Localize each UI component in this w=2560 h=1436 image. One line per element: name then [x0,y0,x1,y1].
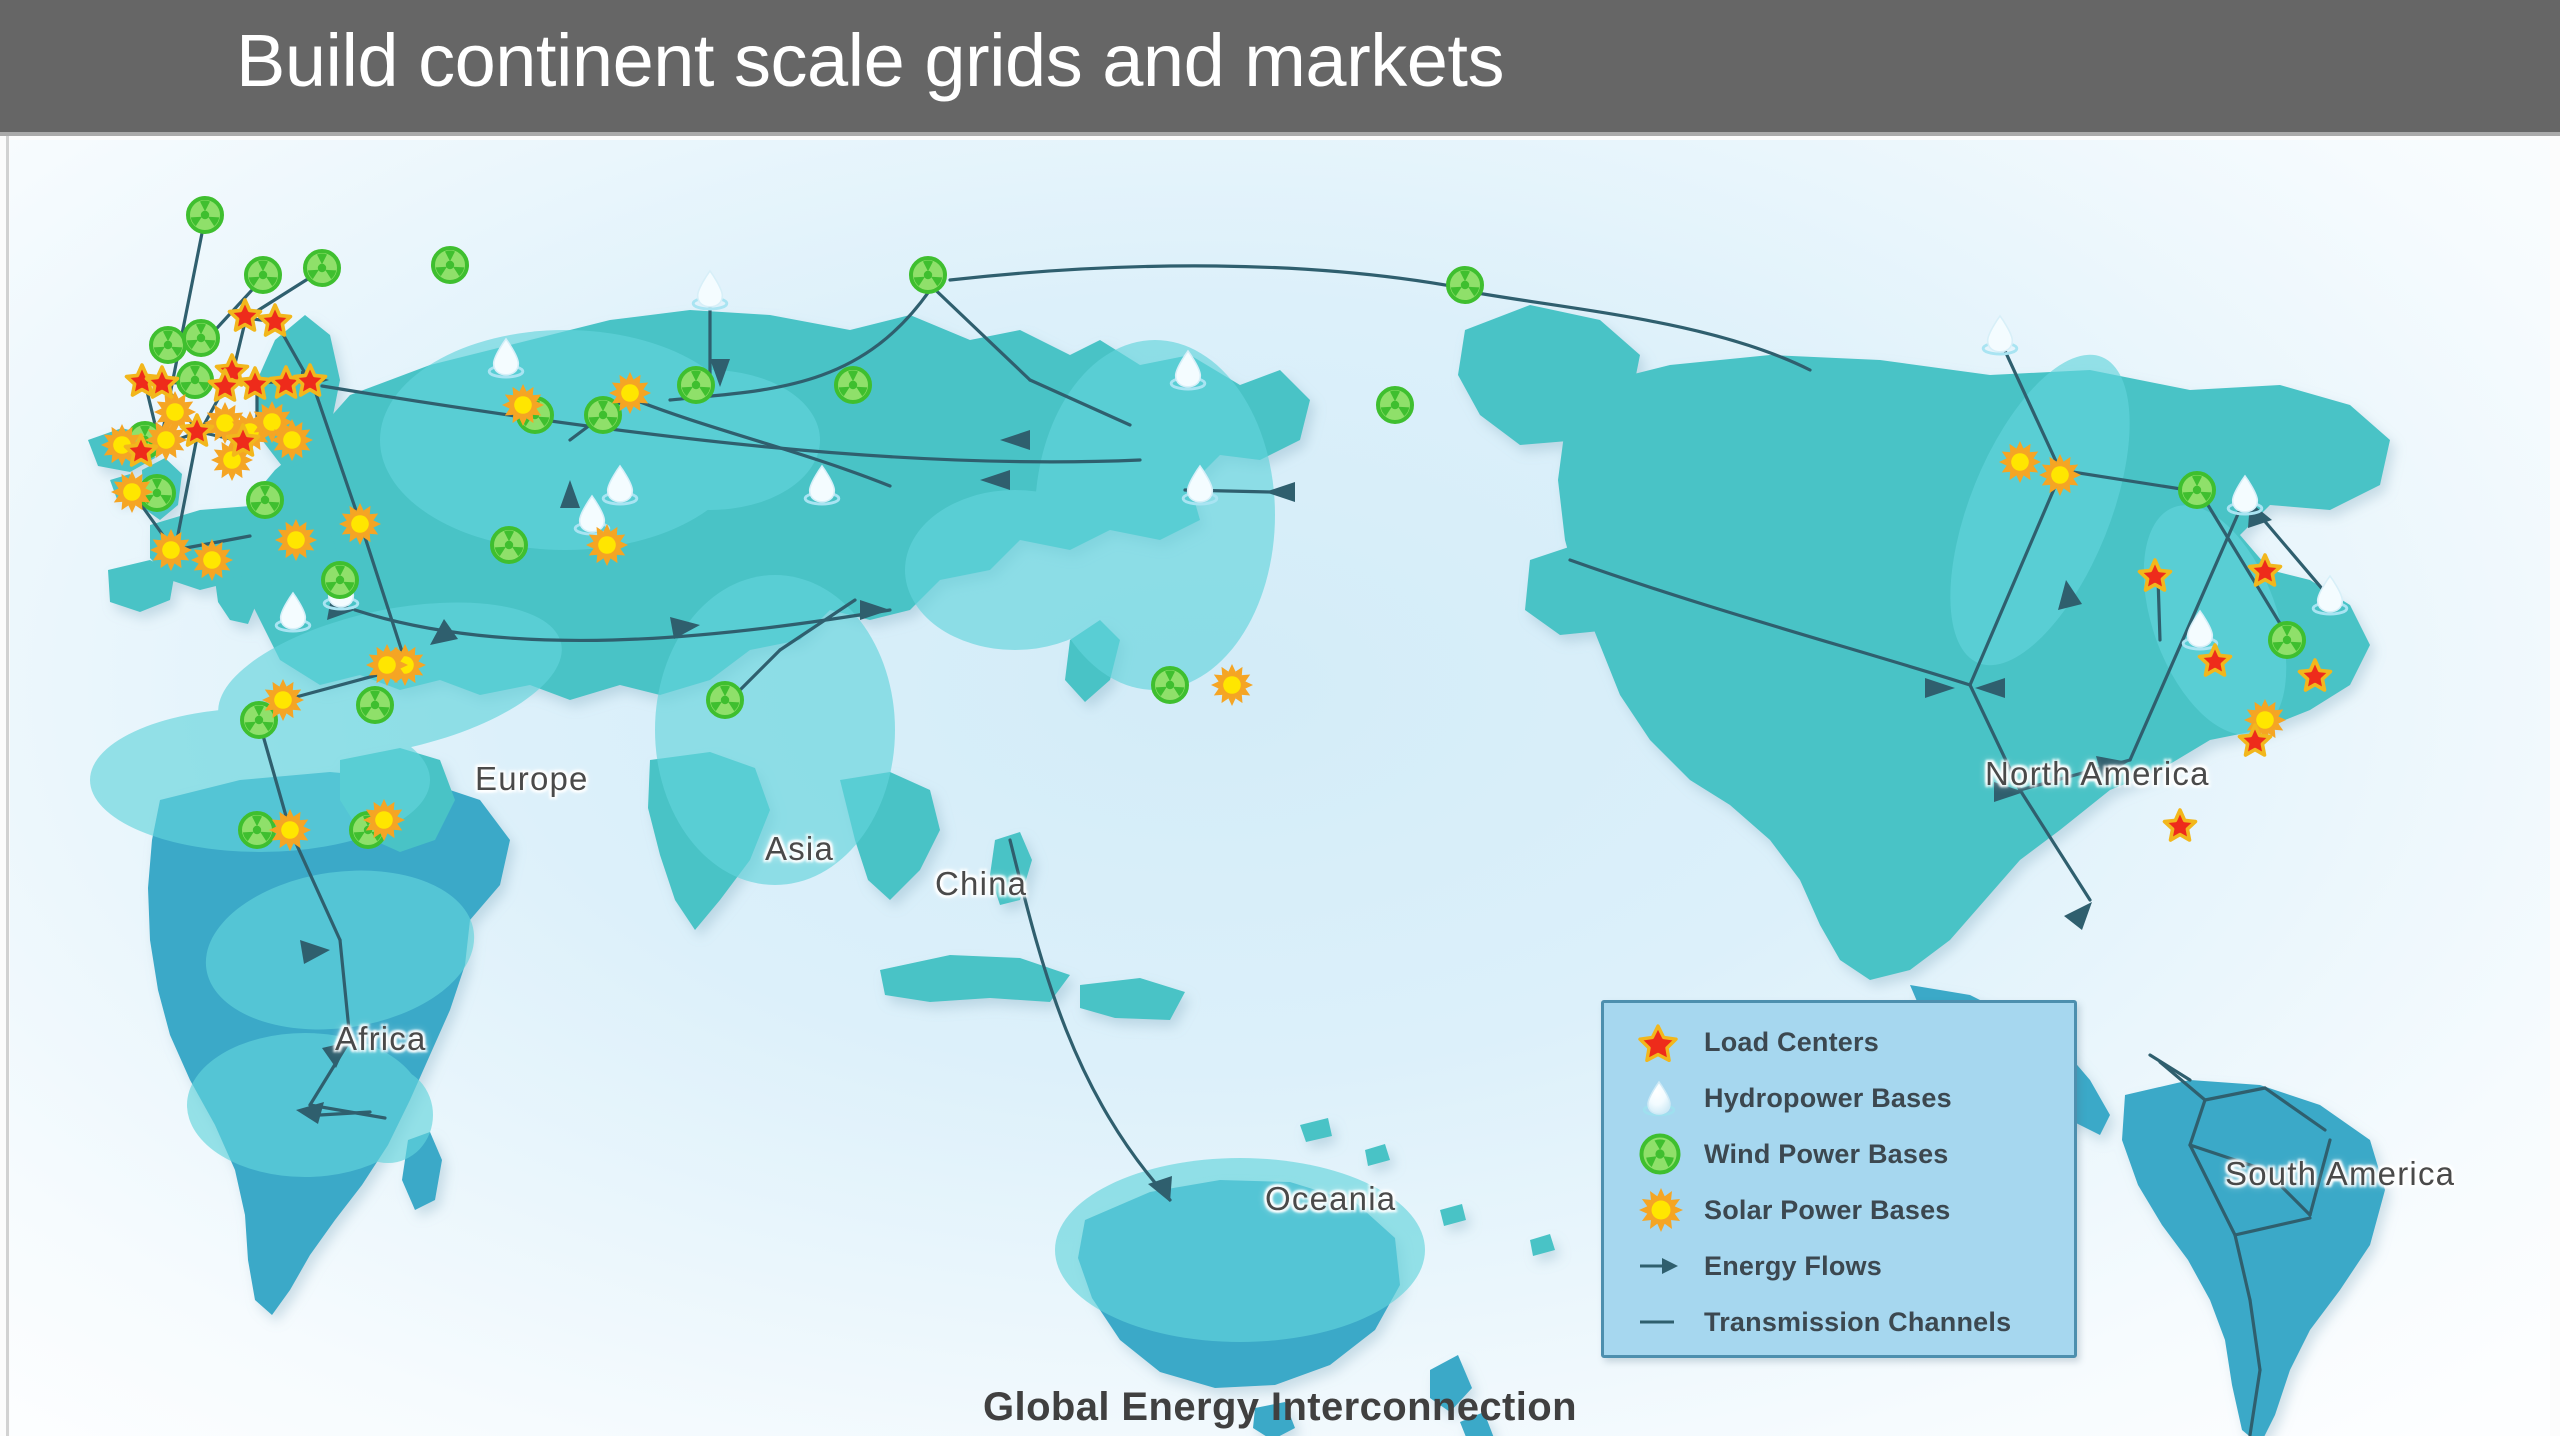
sun-icon [1638,1187,1704,1233]
water-drop-icon [1638,1077,1704,1119]
world-map: Europe Asia China Africa Oceania North A… [10,140,2550,1436]
title-bar: Build continent scale grids and markets [0,0,2560,132]
slide-root: Build continent scale grids and markets [0,0,2560,1436]
map-caption: Global Energy Interconnection [10,1385,2550,1430]
legend-label: Load Centers [1704,1027,1879,1058]
arrow-right-icon [1638,1254,1704,1278]
legend-label: Energy Flows [1704,1251,1882,1282]
legend-item-wind-power: Wind Power Bases [1638,1133,1949,1175]
horizontal-line-icon [1638,1315,1704,1329]
legend-label: Solar Power Bases [1704,1195,1951,1226]
legend-item-energy-flows: Energy Flows [1638,1245,1882,1287]
legend-label: Transmission Channels [1704,1307,2011,1338]
legend-item-load-centers: Load Centers [1638,1021,1879,1063]
legend-label: Hydropower Bases [1704,1083,1952,1114]
wind-turbine-icon [1638,1132,1704,1176]
title-underline [0,132,2560,136]
map-legend: Load Centers Hydropower Bases [1601,1000,2077,1358]
star-icon [1638,1022,1704,1062]
page-title: Build continent scale grids and markets [236,18,1504,103]
legend-item-transmission-channels: Transmission Channels [1638,1301,2011,1343]
legend-item-solar-power: Solar Power Bases [1638,1189,1951,1231]
world-map-svg [10,140,2550,1436]
legend-item-hydropower: Hydropower Bases [1638,1077,1952,1119]
legend-label: Wind Power Bases [1704,1139,1949,1170]
content-left-border [6,136,9,1436]
